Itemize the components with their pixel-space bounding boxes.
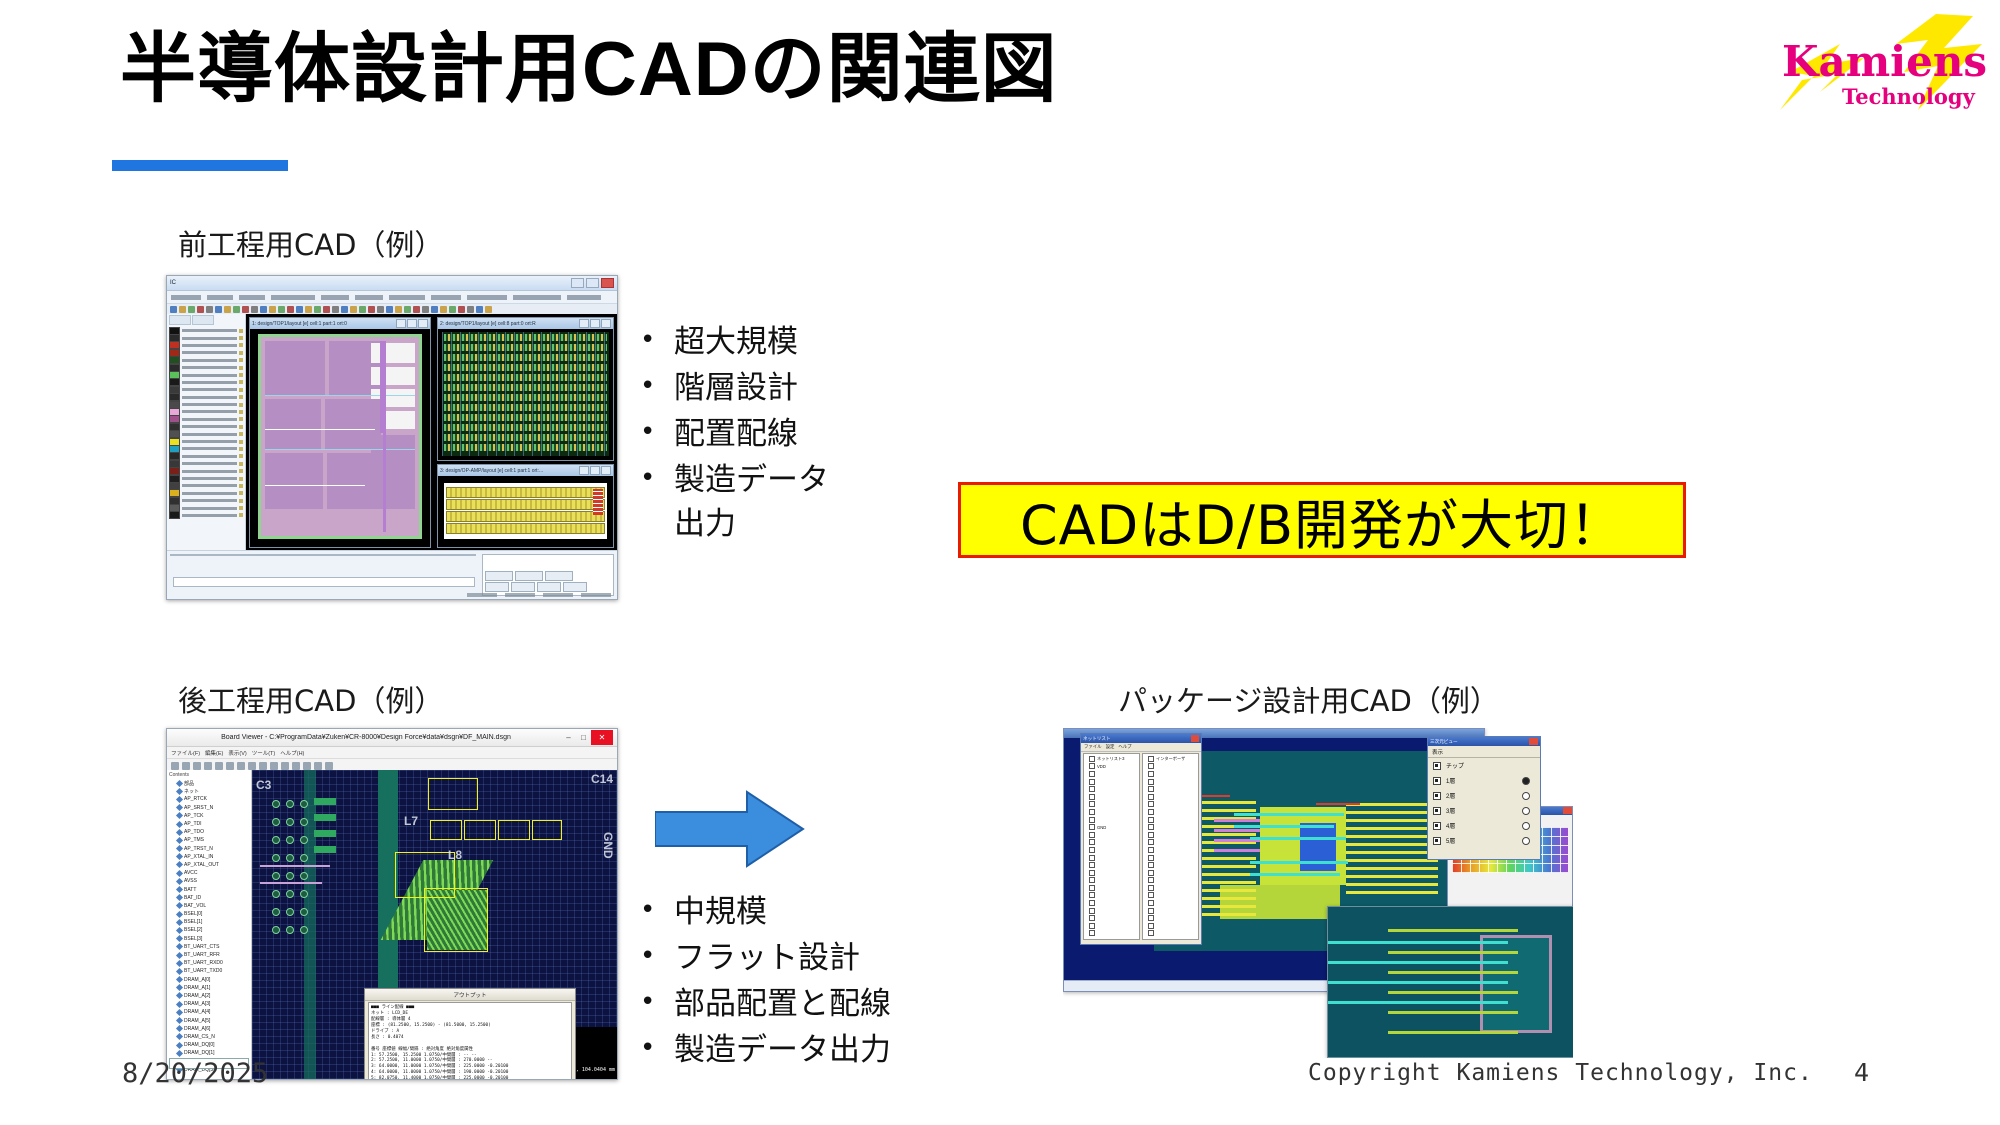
bullet-list-back-end: • 中規模 • フラット設計 • 部品配置と配線 • 製造データ出力 xyxy=(640,890,891,1074)
tab-waveprint[interactable] xyxy=(545,571,573,581)
up-icon xyxy=(248,762,256,770)
net-item[interactable] xyxy=(1144,770,1197,778)
list-item-label: 超大規模 xyxy=(674,320,798,364)
close-icon[interactable] xyxy=(1563,807,1572,814)
net-item[interactable]: BSEL[0] xyxy=(169,910,249,918)
net-item[interactable]: BATT xyxy=(169,885,249,893)
net-item[interactable] xyxy=(1085,801,1138,809)
net-item[interactable] xyxy=(1085,778,1138,786)
mdi-titlebar: 2: design/TOP1/layout [e] cell:8 part:0 … xyxy=(438,318,613,329)
ic-window-title: IC xyxy=(170,280,176,286)
mdi-titlebar: 3: design/OP-AMP/layout [e] cell:1 part:… xyxy=(438,465,613,476)
checkbox-icon[interactable] xyxy=(1433,837,1441,845)
layer-dialog-titlebar: 三次元ビュー xyxy=(1428,737,1540,746)
mdi-title: 3: design/OP-AMP/layout [e] cell:1 part:… xyxy=(440,468,543,474)
bullet-dot-icon: • xyxy=(640,890,674,930)
analog-block-view xyxy=(444,483,607,539)
net-item[interactable] xyxy=(1144,793,1197,801)
net-item[interactable] xyxy=(1144,839,1197,847)
close-icon[interactable] xyxy=(1191,735,1199,742)
kamiens-logo: Kamiens Technology xyxy=(1768,14,1986,114)
slide-root: 半導体設計用CADの関連図 Kamiens Technology 前工程用CAD… xyxy=(0,0,2000,1125)
tab-history-coord[interactable] xyxy=(537,582,561,592)
pcb-label: L7 xyxy=(404,814,418,828)
board-viewer-body: Contents 部品 ネット AP_RTCK AP_SRST_N AP_TCK… xyxy=(167,770,617,1079)
netlist-titlebar: ネットリスト xyxy=(1081,734,1201,743)
output-dialog[interactable]: アウトプット ■■■ ライン配線 ■■■ ネット : LCD_DE 配線層 : … xyxy=(364,988,576,1079)
menu-file[interactable]: ファイル xyxy=(1084,744,1102,750)
pcb-label: GND xyxy=(601,832,615,859)
bullet-dot-icon: • xyxy=(640,982,674,1022)
net-item[interactable] xyxy=(1085,922,1138,930)
net-item[interactable] xyxy=(1085,816,1138,824)
menu-file[interactable]: ファイル(F) xyxy=(171,749,200,757)
ic-layer-list[interactable] xyxy=(167,326,245,551)
package-closeup-inset xyxy=(1327,906,1573,1058)
footer-date: 8/20/2025 xyxy=(122,1058,268,1089)
net-item[interactable] xyxy=(1085,808,1138,816)
net-item[interactable] xyxy=(1144,808,1197,816)
net-item[interactable]: AP_XTAL_IN xyxy=(169,853,249,861)
net-item[interactable] xyxy=(1144,884,1197,892)
column-header: ネットリスト3 xyxy=(1085,755,1138,763)
net-item[interactable] xyxy=(1144,930,1197,938)
footer-copyright: Copyright Kamiens Technology, Inc. xyxy=(1308,1060,1813,1086)
checkbox-icon[interactable] xyxy=(1433,822,1441,830)
tab-property[interactable] xyxy=(563,582,587,592)
mdi-window-top-layout[interactable]: 1: design/TOP1/layout [e] cell:1 part:1 … xyxy=(249,317,431,548)
tree-node-nets[interactable]: ネット xyxy=(169,787,249,795)
pcb-label: L8 xyxy=(448,848,462,862)
close-icon xyxy=(418,319,428,328)
layer-dialog-group-label: 表示 xyxy=(1428,746,1540,758)
maximize-icon xyxy=(590,466,600,475)
netlist-menubar[interactable]: ファイル 設定 ヘルプ xyxy=(1081,743,1201,752)
zoom-icon xyxy=(182,762,190,770)
maximize-icon xyxy=(407,319,417,328)
caption-front-end-cad: 前工程用CAD（例） xyxy=(178,222,443,264)
net-item[interactable]: DRAM_DQ[1] xyxy=(169,1049,249,1057)
tree-node-parts[interactable]: 部品 xyxy=(169,779,249,787)
net-item[interactable] xyxy=(1144,892,1197,900)
layer-option-label: 3層 xyxy=(1446,806,1455,815)
checkbox-icon[interactable] xyxy=(1433,762,1441,770)
probe-icon xyxy=(314,762,322,770)
bullet-dot-icon: • xyxy=(640,936,674,976)
radio-icon[interactable] xyxy=(1522,792,1530,800)
ic-properties-pane[interactable] xyxy=(482,554,614,596)
menu-help[interactable]: ヘルプ(H) xyxy=(280,749,304,757)
title-underline-rule xyxy=(112,160,288,171)
net-item[interactable]: DRAM_A[2] xyxy=(169,992,249,1000)
net-item[interactable] xyxy=(1144,763,1197,771)
net-item[interactable] xyxy=(1085,861,1138,869)
bullet-dot-icon: • xyxy=(640,458,674,498)
net-item[interactable] xyxy=(1144,846,1197,854)
checkbox-icon[interactable] xyxy=(1433,807,1441,815)
tab-coord[interactable] xyxy=(515,571,543,581)
radio-icon[interactable] xyxy=(1522,807,1530,815)
screenshot-front-end-cad: IC xyxy=(166,275,618,600)
screenshot-back-end-cad: Board Viewer - C:¥ProgramData¥Zuken¥CR-8… xyxy=(166,728,618,1080)
net-item[interactable] xyxy=(1144,899,1197,907)
layer-option-label: 1層 xyxy=(1446,776,1455,785)
logo-name-bottom: Technology xyxy=(1842,84,1976,109)
menu-view[interactable]: 表示(V) xyxy=(228,749,246,757)
net-item[interactable]: BSEL[3] xyxy=(169,935,249,943)
fit-icon xyxy=(292,762,300,770)
pcb-label: C3 xyxy=(256,778,271,792)
tab-layer[interactable] xyxy=(169,315,191,325)
net-item[interactable]: DRAM_A[1] xyxy=(169,984,249,992)
net-item[interactable] xyxy=(1144,831,1197,839)
net-item[interactable]: DRAM_CS_N xyxy=(169,1033,249,1041)
netlist-column-right[interactable]: インターポーザ xyxy=(1142,753,1199,940)
net-item[interactable]: DRAM_A[4] xyxy=(169,1008,249,1016)
list-item-label: 部品配置と配線 xyxy=(674,982,891,1026)
net-item[interactable] xyxy=(1144,854,1197,862)
maximize-icon xyxy=(590,319,600,328)
net-item[interactable] xyxy=(1085,770,1138,778)
radio-icon[interactable] xyxy=(1522,837,1530,845)
list-item-label: 中規模 xyxy=(674,890,767,934)
pan-icon xyxy=(193,762,201,770)
list-item-label: 製造データ 出力 xyxy=(674,458,829,546)
tab-history[interactable] xyxy=(485,571,513,581)
net-item[interactable]: AVCC xyxy=(169,869,249,877)
callout-box: CADはD/B開発が大切！ xyxy=(958,482,1686,558)
list-item-label: 製造データ出力 xyxy=(674,1028,891,1072)
net-item[interactable] xyxy=(1144,922,1197,930)
menu-tools[interactable]: ツール(T) xyxy=(252,749,276,757)
bullet-dot-icon: • xyxy=(640,1028,674,1068)
list-item-label: 配置配線 xyxy=(674,412,798,456)
net-item[interactable] xyxy=(1144,877,1197,885)
ruler-icon xyxy=(325,762,333,770)
tab-group[interactable] xyxy=(192,315,214,325)
mdi-title: 2: design/TOP1/layout [e] cell:8 part:0 … xyxy=(440,321,536,327)
ic-workspace: 1: design/TOP1/layout [e] cell:1 part:1 … xyxy=(167,314,617,551)
list-item-label: フラット設計 xyxy=(674,936,860,980)
net-item[interactable] xyxy=(1144,869,1197,877)
layer-dialog-title: 三次元ビュー xyxy=(1430,739,1458,745)
net-item[interactable]: AP_TDI xyxy=(169,820,249,828)
net-item[interactable]: AVSS xyxy=(169,877,249,885)
net-item[interactable]: DRAM_A[5] xyxy=(169,1016,249,1024)
menu-help[interactable]: ヘルプ xyxy=(1118,744,1131,750)
checkbox-icon[interactable] xyxy=(1433,792,1441,800)
list-item: • 部品配置と配線 xyxy=(640,982,891,1026)
bullet-dot-icon: • xyxy=(640,366,674,406)
standard-cell-view xyxy=(442,332,609,456)
window-controls xyxy=(571,278,614,288)
net-item[interactable] xyxy=(1085,877,1138,885)
layer-option-2[interactable]: 2層 xyxy=(1428,788,1540,803)
caption-back-end-cad: 後工程用CAD（例） xyxy=(178,678,443,720)
net-item[interactable]: AP_SRST_N xyxy=(169,804,249,812)
net-item[interactable]: DRAM_DQ[0] xyxy=(169,1041,249,1049)
net-item[interactable] xyxy=(1085,839,1138,847)
maximize-icon xyxy=(586,278,599,288)
mdi-title: 1: design/TOP1/layout [e] cell:1 part:1 … xyxy=(252,321,347,327)
footer-page-number: 4 xyxy=(1854,1058,1869,1087)
radio-icon[interactable] xyxy=(1522,777,1530,785)
status-tab-group-1[interactable] xyxy=(485,571,573,581)
net-item[interactable]: AP_RTCK xyxy=(169,795,249,803)
net-item[interactable]: DRAM_A[3] xyxy=(169,1000,249,1008)
mdi-window-stdcell-layout[interactable]: 2: design/TOP1/layout [e] cell:8 part:0 … xyxy=(437,317,614,461)
net-item[interactable] xyxy=(1085,785,1138,793)
net-item[interactable] xyxy=(1085,869,1138,877)
list-item: • 製造データ 出力 xyxy=(640,458,829,546)
net-item[interactable] xyxy=(1085,831,1138,839)
output-dialog-title: アウトプット xyxy=(365,989,575,1001)
ic-console-footer xyxy=(167,550,617,599)
net-item[interactable]: AP_TDO xyxy=(169,828,249,836)
minimize-icon xyxy=(579,319,589,328)
net-item[interactable]: AP_TRST_N xyxy=(169,845,249,853)
column-header: インターポーザ xyxy=(1144,755,1197,763)
net-item[interactable]: AP_TMS xyxy=(169,836,249,844)
net-item[interactable]: BT_UART_RFR xyxy=(169,951,249,959)
minimize-icon xyxy=(579,466,589,475)
status-tab-group-2[interactable] xyxy=(485,582,587,592)
console-output-area[interactable] xyxy=(170,554,476,556)
net-group[interactable]: VDD xyxy=(1085,763,1138,771)
tree-header: Contents xyxy=(169,772,249,778)
layer-option-4[interactable]: 4層 xyxy=(1428,818,1540,833)
layer-option-1[interactable]: 1層 xyxy=(1428,773,1540,788)
menu-edit[interactable]: 編集(E) xyxy=(205,749,223,757)
layer-option-chip[interactable]: チップ xyxy=(1428,758,1540,773)
bullet-list-front-end: • 超大規模 • 階層設計 • 配置配線 • 製造データ 出力 xyxy=(640,320,829,548)
close-icon[interactable]: ✕ xyxy=(591,730,613,745)
netlist-title: ネットリスト xyxy=(1083,736,1111,742)
layer-option-label: 2層 xyxy=(1446,791,1455,800)
ic-canvas-area[interactable]: 1: design/TOP1/layout [e] cell:1 part:1 … xyxy=(246,314,617,551)
select-icon xyxy=(204,762,212,770)
netlist-window[interactable]: ネットリスト ファイル 設定 ヘルプ ネットリスト3 VDD xyxy=(1080,733,1202,945)
board-viewer-title: Board Viewer - C:¥ProgramData¥Zuken¥CR-8… xyxy=(171,734,561,741)
layer-option-label: 5層 xyxy=(1446,836,1455,845)
net-item[interactable]: BSEL[1] xyxy=(169,918,249,926)
net-item[interactable]: BAT_VOL xyxy=(169,902,249,910)
die-layout-view xyxy=(258,334,422,539)
layer-visibility-dialog[interactable]: 三次元ビュー 表示 チップ 1層 2層 3層 xyxy=(1427,736,1541,860)
net-group[interactable]: GND xyxy=(1085,823,1138,831)
ic-panel-tabs[interactable] xyxy=(167,314,245,326)
page-title: 半導体設計用CADの関連図 xyxy=(120,30,1058,110)
net-item[interactable] xyxy=(1144,785,1197,793)
grid-icon xyxy=(171,762,179,770)
maximize-icon[interactable]: □ xyxy=(576,733,591,742)
board-viewer-titlebar: Board Viewer - C:¥ProgramData¥Zuken¥CR-8… xyxy=(167,729,617,747)
net-item[interactable]: BT_UART_RXD0 xyxy=(169,959,249,967)
net-item[interactable] xyxy=(1085,854,1138,862)
logo-name-top: Kamiens xyxy=(1782,37,1986,86)
right-icon xyxy=(281,762,289,770)
netlist-columns: ネットリスト3 VDD GND xyxy=(1083,753,1199,940)
down-icon xyxy=(259,762,267,770)
ic-window-titlebar: IC xyxy=(167,276,617,291)
list-item: • 中規模 xyxy=(640,890,891,934)
list-item: • 超大規模 xyxy=(640,320,829,364)
net-item[interactable]: BT_UART_CTS xyxy=(169,943,249,951)
netlist-tree-panel[interactable]: Contents 部品 ネット AP_RTCK AP_SRST_N AP_TCK… xyxy=(167,770,252,1079)
ic-layer-panel xyxy=(167,314,246,551)
net-item[interactable]: BT_UART_TXD0 xyxy=(169,967,249,975)
pcb-label: C14 xyxy=(591,772,613,786)
list-item-label: 階層設計 xyxy=(674,366,798,410)
net-item[interactable]: DRAM_A[0] xyxy=(169,976,249,984)
left-icon xyxy=(270,762,278,770)
rotate-icon xyxy=(237,762,245,770)
list-item: • 配置配線 xyxy=(640,412,829,456)
tab-log[interactable] xyxy=(511,582,535,592)
flow-arrow-right-icon xyxy=(655,790,805,868)
net-item[interactable] xyxy=(1144,778,1197,786)
output-dialog-content: ■■■ ライン配線 ■■■ ネット : LCD_DE 配線層 : 導体層 4 座… xyxy=(368,1002,572,1079)
close-icon xyxy=(601,466,611,475)
net-item[interactable] xyxy=(1144,801,1197,809)
tab-schema[interactable] xyxy=(485,582,509,592)
net-item[interactable] xyxy=(1144,861,1197,869)
net-item[interactable]: BSEL[2] xyxy=(169,926,249,934)
minimize-icon xyxy=(396,319,406,328)
net-item[interactable] xyxy=(1085,907,1138,915)
layer-icon xyxy=(226,762,234,770)
ic-status-readout xyxy=(467,593,611,597)
minimize-icon[interactable]: – xyxy=(561,733,576,742)
layer-option-label: チップ xyxy=(1446,761,1464,770)
screenshot-package-cad: ネットリスト ファイル 設定 ヘルプ ネットリスト3 VDD xyxy=(1063,728,1573,1058)
caption-package-cad: パッケージ設計用CAD（例） xyxy=(1118,678,1499,720)
minimize-icon xyxy=(571,278,584,288)
net-item[interactable] xyxy=(1085,930,1138,938)
checkbox-icon[interactable] xyxy=(1433,777,1441,785)
net-item[interactable]: AP_TCK xyxy=(169,812,249,820)
netlist-column-left[interactable]: ネットリスト3 VDD GND xyxy=(1083,753,1140,940)
measure-icon xyxy=(215,762,223,770)
radio-icon[interactable] xyxy=(1522,822,1530,830)
layer-option-5[interactable]: 5層 xyxy=(1428,833,1540,848)
net-item[interactable]: AP_XTAL_OUT xyxy=(169,861,249,869)
ic-menubar xyxy=(167,291,617,304)
net-item[interactable] xyxy=(1085,914,1138,922)
list-item: • 階層設計 xyxy=(640,366,829,410)
list-item: • フラット設計 xyxy=(640,936,891,980)
menu-settings[interactable]: 設定 xyxy=(1106,744,1115,750)
pcb-canvas[interactable]: C3 L7 L8 GND C14 45.1350, 104.0404 mm アウ… xyxy=(252,770,617,1079)
callout-text: CADはD/B開発が大切！ xyxy=(1020,481,1624,560)
net-item[interactable] xyxy=(1085,884,1138,892)
highlight-icon xyxy=(303,762,311,770)
mdi-titlebar: 1: design/TOP1/layout [e] cell:1 part:1 … xyxy=(250,318,430,329)
net-item[interactable] xyxy=(1085,793,1138,801)
list-item: • 製造データ出力 xyxy=(640,1028,891,1072)
close-icon xyxy=(601,319,611,328)
net-item[interactable] xyxy=(1144,816,1197,824)
bullet-dot-icon: • xyxy=(640,412,674,452)
layer-option-3[interactable]: 3層 xyxy=(1428,803,1540,818)
layer-option-label: 4層 xyxy=(1446,821,1455,830)
net-item[interactable]: DRAM_A[6] xyxy=(169,1025,249,1033)
close-icon xyxy=(601,278,614,288)
net-item[interactable] xyxy=(1144,907,1197,915)
net-item[interactable] xyxy=(1085,846,1138,854)
board-viewer-menubar[interactable]: ファイル(F) 編集(E) 表示(V) ツール(T) ヘルプ(H) xyxy=(167,747,617,759)
net-item[interactable] xyxy=(1144,914,1197,922)
net-item[interactable]: BAT_ID xyxy=(169,894,249,902)
net-item[interactable] xyxy=(1085,892,1138,900)
mdi-window-opamp-layout[interactable]: 3: design/OP-AMP/layout [e] cell:1 part:… xyxy=(437,464,614,548)
net-item[interactable] xyxy=(1144,823,1197,831)
close-icon[interactable] xyxy=(1529,738,1538,745)
bullet-dot-icon: • xyxy=(640,320,674,360)
net-item[interactable] xyxy=(1085,899,1138,907)
command-input[interactable] xyxy=(173,577,475,587)
